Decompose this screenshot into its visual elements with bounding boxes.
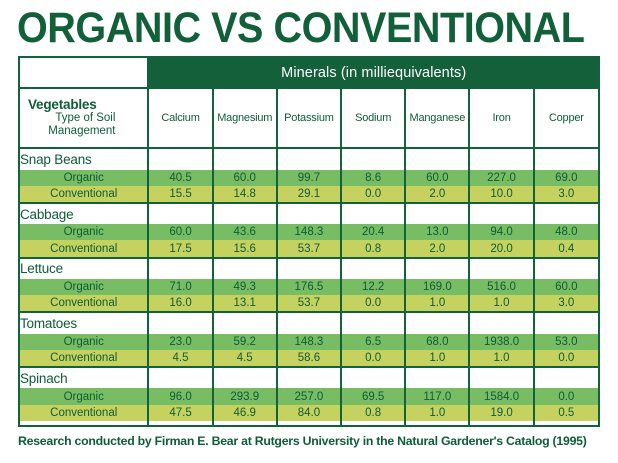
- soil-management-label: Conventional: [20, 186, 148, 203]
- cell-value: 1.0: [405, 350, 469, 367]
- page-title: ORGANIC VS CONVENTIONAL: [17, 5, 560, 51]
- cell-value: 47.5: [148, 405, 212, 421]
- cell-value: 17.5: [148, 240, 212, 257]
- group-header-row: Snap Beans: [20, 148, 598, 169]
- table-row: Organic60.043.6148.320.413.094.048.0: [20, 224, 598, 240]
- cell-value: 29.1: [277, 186, 341, 203]
- infographic-sheet: ORGANIC VS CONVENTIONAL Minerals (in mil…: [0, 0, 618, 463]
- table-row: Organic23.059.2148.36.568.01938.053.0: [20, 334, 598, 350]
- group-header-spacer: [341, 148, 405, 169]
- column-header-potassium: Potassium: [277, 88, 341, 148]
- cell-value: 53.7: [277, 240, 341, 257]
- group-header-spacer: [469, 258, 533, 279]
- bottom-spacer-cell: [405, 421, 469, 425]
- cell-value: 60.0: [148, 224, 212, 240]
- cell-value: 13.0: [405, 224, 469, 240]
- cell-value: 117.0: [405, 388, 469, 404]
- soil-management-label: Conventional: [20, 405, 148, 421]
- soil-management-label: Conventional: [20, 350, 148, 367]
- group-header-spacer: [341, 258, 405, 279]
- cell-value: 176.5: [277, 279, 341, 295]
- soil-management-label: Conventional: [20, 295, 148, 312]
- cell-value: 6.5: [341, 334, 405, 350]
- column-header-iron: Iron: [469, 88, 533, 148]
- bottom-spacer-cell: [277, 421, 341, 425]
- cell-value: 1.0: [469, 350, 533, 367]
- group-name: Spinach: [20, 367, 148, 388]
- row-axis-header: VegetablesType of SoilManagement: [20, 88, 148, 148]
- cell-value: 0.0: [534, 350, 598, 367]
- minerals-table: Minerals (in milliequivalents)Vegetables…: [18, 56, 600, 427]
- cell-value: 2.0: [405, 186, 469, 203]
- group-header-row: Cabbage: [20, 203, 598, 224]
- cell-value: 71.0: [148, 279, 212, 295]
- table-row: Conventional15.514.829.10.02.010.03.0: [20, 186, 598, 203]
- soil-management-label: Conventional: [20, 240, 148, 257]
- soil-management-label: Organic: [20, 334, 148, 350]
- group-header-spacer: [534, 312, 598, 333]
- group-header-spacer: [534, 258, 598, 279]
- bottom-spacer-cell: [341, 421, 405, 425]
- banner-spacer: [20, 58, 148, 88]
- group-header-spacer: [469, 367, 533, 388]
- cell-value: 1.0: [469, 295, 533, 312]
- cell-value: 60.0: [213, 170, 277, 186]
- table-row: Organic71.049.3176.512.2169.0516.060.0: [20, 279, 598, 295]
- soil-management-label: Organic: [20, 170, 148, 186]
- group-header-row: Tomatoes: [20, 312, 598, 333]
- table-row: Conventional16.013.153.70.01.01.03.0: [20, 295, 598, 312]
- group-name: Cabbage: [20, 203, 148, 224]
- cell-value: 3.0: [534, 295, 598, 312]
- group-header-spacer: [469, 312, 533, 333]
- column-header-magnesium: Magnesium: [213, 88, 277, 148]
- cell-value: 293.9: [213, 388, 277, 404]
- table-row: Conventional4.54.558.60.01.01.00.0: [20, 350, 598, 367]
- group-header-spacer: [534, 203, 598, 224]
- cell-value: 60.0: [405, 170, 469, 186]
- group-header-spacer: [405, 148, 469, 169]
- cell-value: 60.0: [534, 279, 598, 295]
- cell-value: 3.0: [534, 186, 598, 203]
- cell-value: 8.6: [341, 170, 405, 186]
- group-header-spacer: [341, 367, 405, 388]
- group-header-spacer: [148, 203, 212, 224]
- cell-value: 0.4: [534, 240, 598, 257]
- cell-value: 516.0: [469, 279, 533, 295]
- group-name: Tomatoes: [20, 312, 148, 333]
- cell-value: 14.8: [213, 186, 277, 203]
- table-body: Minerals (in milliequivalents)Vegetables…: [20, 58, 598, 425]
- cell-value: 1584.0: [469, 388, 533, 404]
- bottom-spacer-cell: [469, 421, 533, 425]
- row-axis-sub2: Management: [28, 125, 139, 139]
- cell-value: 48.0: [534, 224, 598, 240]
- cell-value: 4.5: [213, 350, 277, 367]
- cell-value: 10.0: [469, 186, 533, 203]
- cell-value: 68.0: [405, 334, 469, 350]
- column-header-calcium: Calcium: [148, 88, 212, 148]
- cell-value: 99.7: [277, 170, 341, 186]
- bottom-spacer-cell: [213, 421, 277, 425]
- cell-value: 0.0: [534, 388, 598, 404]
- group-header-spacer: [469, 203, 533, 224]
- cell-value: 69.5: [341, 388, 405, 404]
- cell-value: 0.8: [341, 405, 405, 421]
- column-header-manganese: Manganese: [405, 88, 469, 148]
- cell-value: 53.7: [277, 295, 341, 312]
- group-header-spacer: [213, 258, 277, 279]
- cell-value: 94.0: [469, 224, 533, 240]
- group-header-spacer: [148, 148, 212, 169]
- column-header-row: VegetablesType of SoilManagementCalciumM…: [20, 88, 598, 148]
- cell-value: 20.4: [341, 224, 405, 240]
- cell-value: 1.0: [405, 405, 469, 421]
- cell-value: 53.0: [534, 334, 598, 350]
- cell-value: 49.3: [213, 279, 277, 295]
- cell-value: 23.0: [148, 334, 212, 350]
- group-header-spacer: [148, 367, 212, 388]
- group-header-spacer: [341, 312, 405, 333]
- cell-value: 69.0: [534, 170, 598, 186]
- column-header-sodium: Sodium: [341, 88, 405, 148]
- cell-value: 2.0: [405, 240, 469, 257]
- group-header-spacer: [469, 148, 533, 169]
- cell-value: 20.0: [469, 240, 533, 257]
- group-header-spacer: [534, 367, 598, 388]
- cell-value: 0.5: [534, 405, 598, 421]
- group-header-spacer: [277, 367, 341, 388]
- cell-value: 15.5: [148, 186, 212, 203]
- group-header-spacer: [405, 258, 469, 279]
- cell-value: 0.8: [341, 240, 405, 257]
- soil-management-label: Organic: [20, 224, 148, 240]
- soil-management-label: Organic: [20, 279, 148, 295]
- cell-value: 96.0: [148, 388, 212, 404]
- group-header-spacer: [277, 258, 341, 279]
- group-header-spacer: [405, 367, 469, 388]
- group-name: Lettuce: [20, 258, 148, 279]
- bottom-spacer-cell: [20, 421, 148, 425]
- cell-value: 148.3: [277, 334, 341, 350]
- row-axis-sub1: Type of Soil: [28, 112, 139, 126]
- row-axis-title: Vegetables: [28, 98, 139, 112]
- source-note: Research conducted by Firman E. Bear at …: [18, 434, 606, 448]
- table-row: Conventional17.515.653.70.82.020.00.4: [20, 240, 598, 257]
- column-header-copper: Copper: [534, 88, 598, 148]
- group-header-spacer: [341, 203, 405, 224]
- group-header-spacer: [148, 312, 212, 333]
- group-header-spacer: [405, 203, 469, 224]
- cell-value: 16.0: [148, 295, 212, 312]
- cell-value: 0.0: [341, 186, 405, 203]
- table-row: Organic40.560.099.78.660.0227.069.0: [20, 170, 598, 186]
- cell-value: 43.6: [213, 224, 277, 240]
- cell-value: 0.0: [341, 350, 405, 367]
- group-header-spacer: [277, 312, 341, 333]
- cell-value: 257.0: [277, 388, 341, 404]
- cell-value: 227.0: [469, 170, 533, 186]
- group-name: Snap Beans: [20, 148, 148, 169]
- group-header-spacer: [534, 148, 598, 169]
- group-header-spacer: [277, 203, 341, 224]
- table-bottom-spacer: [20, 421, 598, 425]
- group-header-row: Lettuce: [20, 258, 598, 279]
- group-header-spacer: [213, 312, 277, 333]
- banner-row: Minerals (in milliequivalents): [20, 58, 598, 88]
- cell-value: 4.5: [148, 350, 212, 367]
- cell-value: 59.2: [213, 334, 277, 350]
- group-header-spacer: [277, 148, 341, 169]
- banner-label: Minerals (in milliequivalents): [148, 58, 598, 88]
- cell-value: 15.6: [213, 240, 277, 257]
- cell-value: 46.9: [213, 405, 277, 421]
- table-row: Conventional47.546.984.00.81.019.00.5: [20, 405, 598, 421]
- group-header-spacer: [213, 367, 277, 388]
- cell-value: 1938.0: [469, 334, 533, 350]
- data-table: Minerals (in milliequivalents)Vegetables…: [20, 58, 598, 425]
- cell-value: 19.0: [469, 405, 533, 421]
- cell-value: 84.0: [277, 405, 341, 421]
- cell-value: 1.0: [405, 295, 469, 312]
- cell-value: 0.0: [341, 295, 405, 312]
- group-header-spacer: [405, 312, 469, 333]
- cell-value: 148.3: [277, 224, 341, 240]
- table-row: Organic96.0293.9257.069.5117.01584.00.0: [20, 388, 598, 404]
- group-header-spacer: [213, 203, 277, 224]
- cell-value: 12.2: [341, 279, 405, 295]
- group-header-spacer: [148, 258, 212, 279]
- soil-management-label: Organic: [20, 388, 148, 404]
- cell-value: 13.1: [213, 295, 277, 312]
- cell-value: 169.0: [405, 279, 469, 295]
- bottom-spacer-cell: [534, 421, 598, 425]
- bottom-spacer-cell: [148, 421, 212, 425]
- cell-value: 58.6: [277, 350, 341, 367]
- group-header-row: Spinach: [20, 367, 598, 388]
- group-header-spacer: [213, 148, 277, 169]
- cell-value: 40.5: [148, 170, 212, 186]
